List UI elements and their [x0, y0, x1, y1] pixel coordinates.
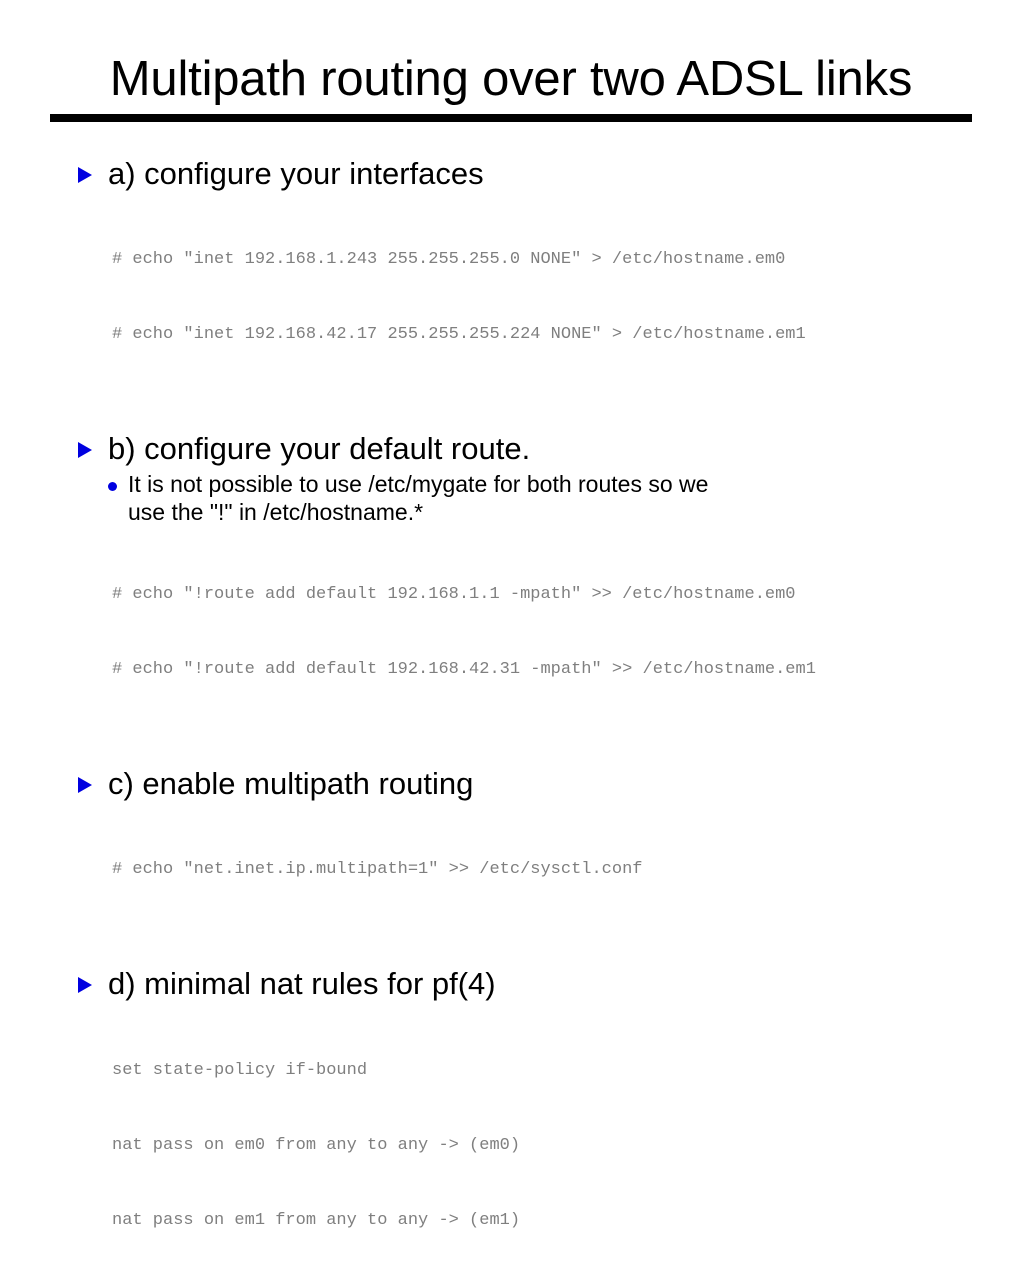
code-line: nat pass on em1 from any to any -> (em1): [112, 1208, 1024, 1233]
section-c: c) enable multipath routing # echo "net.…: [0, 765, 1024, 932]
section-d-heading-row: d) minimal nat rules for pf(4): [0, 965, 1024, 1003]
section-c-heading: c) enable multipath routing: [108, 766, 473, 801]
dot-bullet-icon: [108, 482, 117, 491]
code-line: # echo "!route add default 192.168.1.1 -…: [112, 582, 1024, 607]
section-a-code-block: # echo "inet 192.168.1.243 255.255.255.0…: [0, 197, 1024, 397]
section-a-heading: a) configure your interfaces: [108, 156, 484, 191]
page-title: Multipath routing over two ADSL links: [50, 50, 972, 108]
code-line: nat pass on em0 from any to any -> (em0): [112, 1133, 1024, 1158]
section-b-subbullet-row: It is not possible to use /etc/mygate fo…: [0, 470, 1024, 526]
triangle-bullet-icon: [78, 977, 92, 993]
presentation-slide: Multipath routing over two ADSL links a)…: [0, 0, 1024, 768]
section-b: b) configure your default route. It is n…: [0, 430, 1024, 732]
section-b-subbullet: It is not possible to use /etc/mygate fo…: [128, 471, 1024, 526]
section-d-code-block: set state-policy if-bound nat pass on em…: [0, 1008, 1024, 1283]
section-b-code-block: # echo "!route add default 192.168.1.1 -…: [0, 532, 1024, 732]
section-d-heading: d) minimal nat rules for pf(4): [108, 966, 496, 1001]
section-d: d) minimal nat rules for pf(4) set state…: [0, 965, 1024, 1283]
section-b-heading: b) configure your default route.: [108, 431, 530, 466]
section-a-heading-row: a) configure your interfaces: [0, 155, 1024, 193]
triangle-bullet-icon: [78, 167, 92, 183]
triangle-bullet-icon: [78, 442, 92, 458]
title-underline-rule: [50, 114, 972, 122]
subbullet-line-1: It is not possible to use /etc/mygate fo…: [128, 471, 708, 497]
section-c-heading-row: c) enable multipath routing: [0, 765, 1024, 803]
section-a: a) configure your interfaces # echo "ine…: [0, 155, 1024, 397]
code-line: # echo "inet 192.168.1.243 255.255.255.0…: [112, 247, 1024, 272]
section-b-heading-row: b) configure your default route.: [0, 430, 1024, 468]
triangle-bullet-icon: [78, 777, 92, 793]
code-line: # echo "inet 192.168.42.17 255.255.255.2…: [112, 322, 1024, 347]
subbullet-line-2: use the "!" in /etc/hostname.*: [128, 498, 1024, 526]
section-c-code-block: # echo "net.inet.ip.multipath=1" >> /etc…: [0, 807, 1024, 932]
code-line: set state-policy if-bound: [112, 1058, 1024, 1083]
slide-body: a) configure your interfaces # echo "ine…: [0, 155, 1024, 1283]
code-line: # echo "net.inet.ip.multipath=1" >> /etc…: [112, 857, 1024, 882]
code-line: # echo "!route add default 192.168.42.31…: [112, 657, 1024, 682]
title-block: Multipath routing over two ADSL links: [50, 50, 972, 122]
